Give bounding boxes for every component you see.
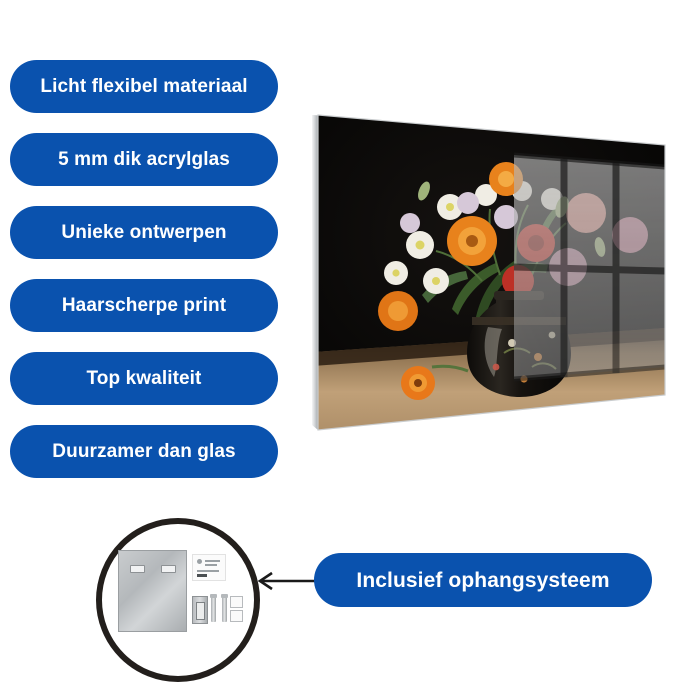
wall-plug (230, 596, 243, 608)
wall-bracket (192, 596, 208, 624)
feature-badge-label: Top kwaliteit (87, 369, 202, 388)
product-marketing-graphic: Licht flexibel materiaal 5 mm dik acrylg… (0, 0, 700, 700)
feature-badge-label: Licht flexibel materiaal (40, 77, 247, 96)
callout-badge-label: Inclusief ophangsysteem (356, 570, 609, 591)
feature-badge-label: 5 mm dik acrylglas (58, 150, 230, 169)
acrylic-print-preview (300, 95, 680, 445)
feature-badge-haarscherpe-print[interactable]: Haarscherpe print (10, 279, 278, 332)
aluminium-mounting-rail (118, 550, 187, 632)
feature-badge-label: Unieke ontwerpen (61, 223, 226, 242)
feature-badge-duurzamer-dan-glas[interactable]: Duurzamer dan glas (10, 425, 278, 478)
feature-badge-top-kwaliteit[interactable]: Top kwaliteit (10, 352, 278, 405)
feature-badge-unieke-ontwerpen[interactable]: Unieke ontwerpen (10, 206, 278, 259)
rail-slot (130, 565, 145, 573)
hanging-system-magnifier (96, 518, 260, 682)
artwork-svg (300, 95, 680, 445)
screw (222, 597, 227, 622)
feature-badge-label: Duurzamer dan glas (52, 442, 235, 461)
instruction-sheet (192, 554, 226, 581)
wall-plug (230, 610, 243, 622)
artwork-image (300, 95, 680, 445)
screw (211, 597, 216, 622)
feature-badge-list: Licht flexibel materiaal 5 mm dik acrylg… (10, 60, 278, 498)
rail-slot (161, 565, 176, 573)
window-reflection-overlay (514, 155, 665, 379)
feature-badge-licht-flexibel-materiaal[interactable]: Licht flexibel materiaal (10, 60, 278, 113)
feature-badge-5-mm-dik-acrylglas[interactable]: 5 mm dik acrylglas (10, 133, 278, 186)
mounting-hardware-kit (118, 548, 238, 648)
feature-badge-label: Haarscherpe print (62, 296, 226, 315)
callout-badge-inclusief-ophangsysteem[interactable]: Inclusief ophangsysteem (314, 553, 652, 607)
acrylic-edge-left (312, 115, 318, 430)
